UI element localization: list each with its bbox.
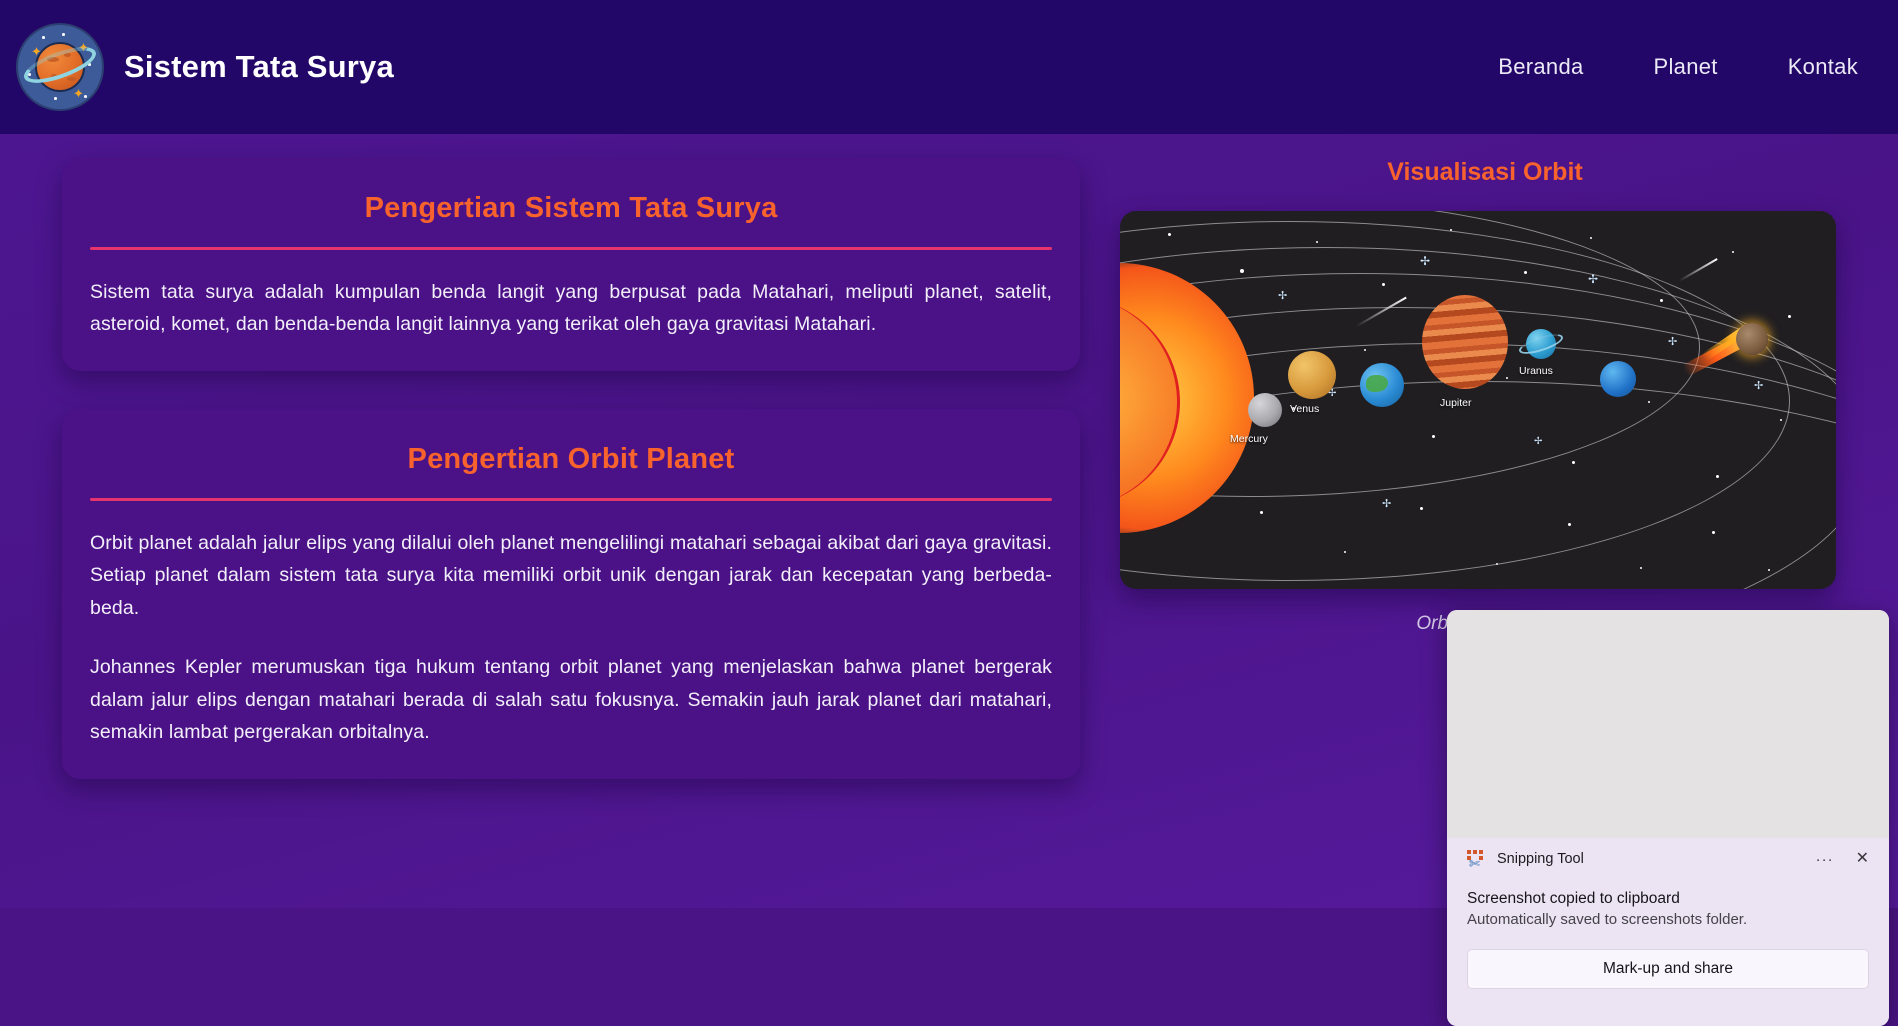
planet-label-jupiter: Jupiter [1440, 397, 1472, 409]
content-column: Pengertian Sistem Tata Surya Sistem tata… [62, 158, 1080, 779]
notification-preview-area [1447, 610, 1889, 838]
planet-earth [1360, 363, 1404, 407]
snipping-tool-icon: ✄ [1467, 850, 1486, 869]
planet-ring-icon: ✦ ✦ ✦ [18, 25, 102, 109]
brand[interactable]: ✦ ✦ ✦ Sistem Tata Surya [18, 25, 394, 109]
nav-link-kontak[interactable]: Kontak [1788, 54, 1858, 80]
card-divider [90, 247, 1052, 250]
mark-up-and-share-button[interactable]: Mark-up and share [1467, 949, 1869, 989]
brand-title: Sistem Tata Surya [124, 49, 394, 85]
planet-mercury [1248, 393, 1282, 427]
planet-venus [1288, 351, 1336, 399]
card-divider [90, 498, 1052, 501]
planet-label-uranus: Uranus [1519, 365, 1553, 377]
snipping-tool-notification[interactable]: ✄ Snipping Tool ··· ✕ Screenshot copied … [1447, 610, 1889, 1026]
site-header: ✦ ✦ ✦ Sistem Tata Surya Beranda Planet K… [0, 0, 1898, 134]
notification-title: Screenshot copied to clipboard [1467, 890, 1869, 908]
card-paragraph: Johannes Kepler merumuskan tiga hukum te… [90, 651, 1052, 749]
nav-link-planet[interactable]: Planet [1654, 54, 1718, 80]
nav-link-beranda[interactable]: Beranda [1498, 54, 1583, 80]
notification-app-name: Snipping Tool [1497, 851, 1584, 867]
planet-label-venus: Venus [1290, 403, 1319, 415]
comet-icon [1680, 285, 1776, 361]
planet-label-mercury: Mercury [1230, 433, 1268, 445]
notification-actions: ··· ✕ [1816, 851, 1869, 867]
more-options-icon[interactable]: ··· [1816, 852, 1834, 867]
card-orbit-planet: Pengertian Orbit Planet Orbit planet ada… [62, 409, 1080, 779]
card-title: Pengertian Orbit Planet [90, 443, 1052, 476]
card-paragraph: Sistem tata surya adalah kumpulan benda … [90, 276, 1052, 342]
planet-jupiter [1422, 295, 1508, 389]
planet-neptune [1600, 361, 1636, 397]
solar-system-image: ✢ ✢ ✢ ✢ ✢ ✢ ✢ ✢ ✢ ✢ ✢ [1120, 211, 1836, 589]
page-body: Pengertian Sistem Tata Surya Sistem tata… [0, 134, 1898, 908]
card-title: Pengertian Sistem Tata Surya [90, 192, 1052, 225]
close-icon[interactable]: ✕ [1856, 851, 1869, 867]
visualization-column: Visualisasi Orbit [1120, 158, 1850, 635]
notification-content: ✄ Snipping Tool ··· ✕ Screenshot copied … [1447, 838, 1889, 1026]
notification-subtitle: Automatically saved to screenshots folde… [1467, 911, 1869, 928]
notification-header: ✄ Snipping Tool ··· ✕ [1467, 838, 1869, 880]
card-paragraph: Orbit planet adalah jalur elips yang dil… [90, 527, 1052, 625]
visualization-title: Visualisasi Orbit [1120, 158, 1850, 187]
card-sistem-tata-surya: Pengertian Sistem Tata Surya Sistem tata… [62, 158, 1080, 371]
main-nav: Beranda Planet Kontak [1498, 54, 1858, 80]
